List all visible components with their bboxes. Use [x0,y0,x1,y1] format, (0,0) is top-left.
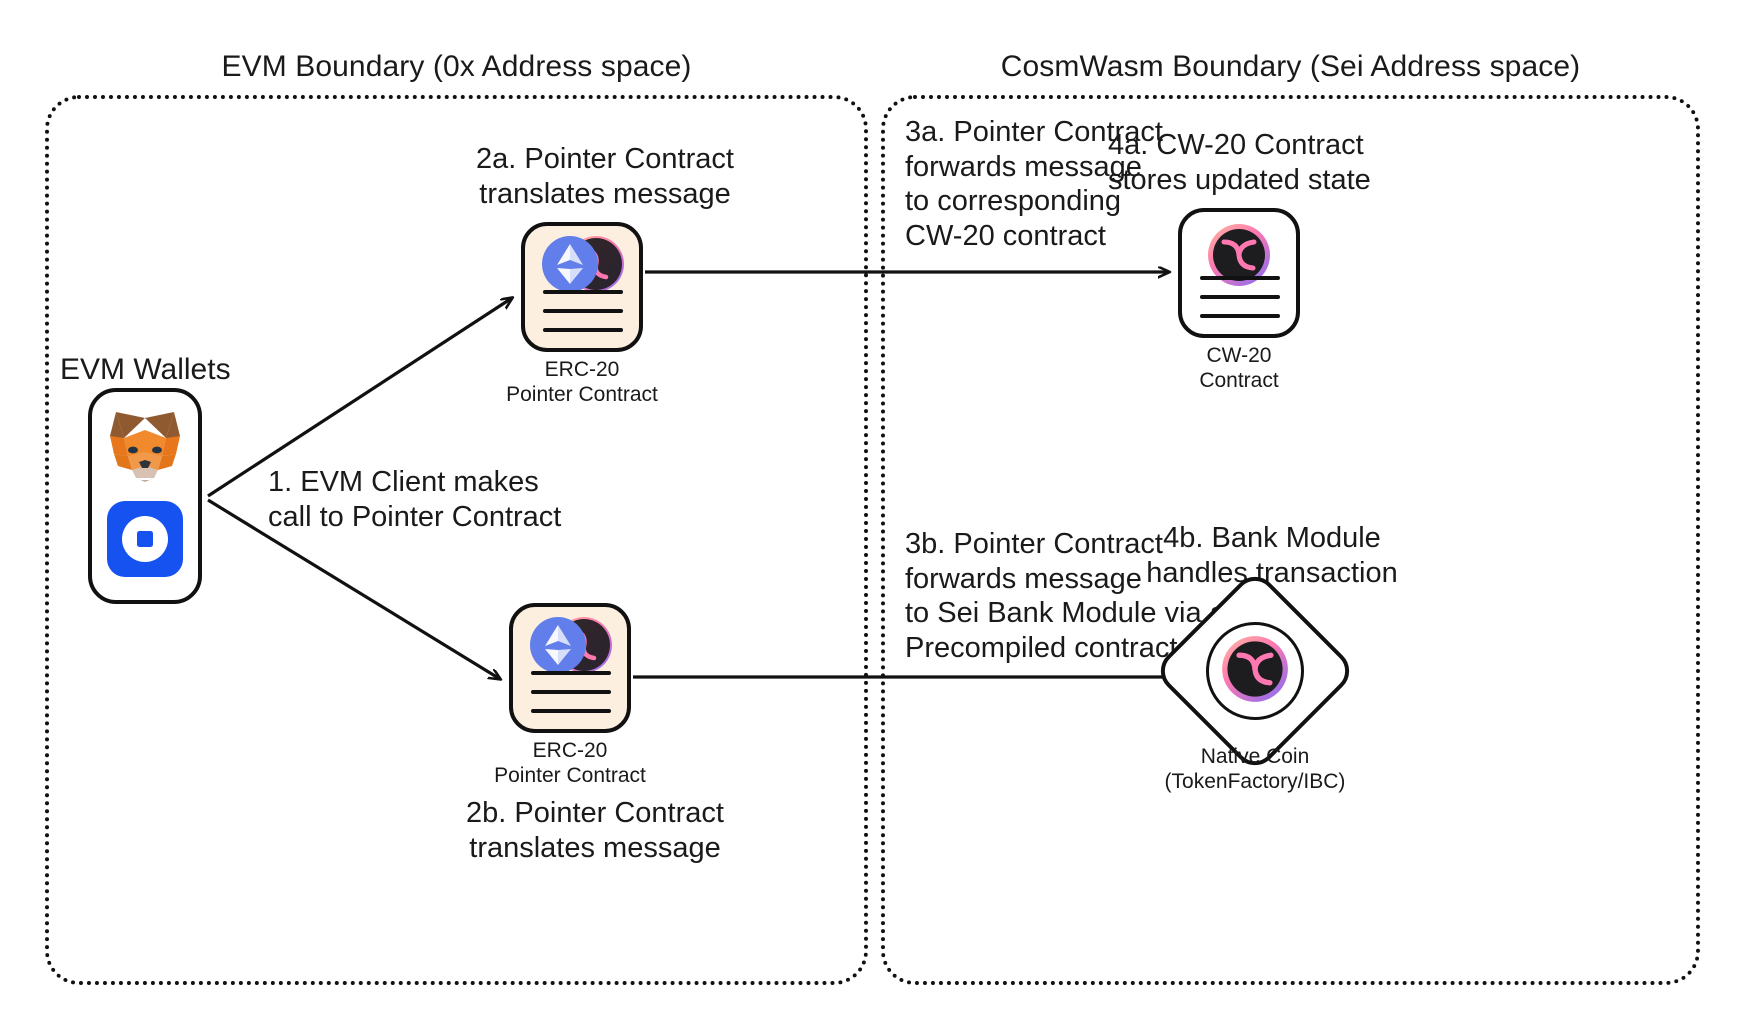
erc20-pointer-contract-bottom-node[interactable] [509,603,631,733]
evm-boundary-title: EVM Boundary (0x Address space) [45,50,868,84]
step-2b-label: 2b. Pointer Contract translates message [420,796,770,865]
sei-logo-icon [1220,634,1290,709]
coinbase-wallet-icon [107,501,183,582]
step-4a-label: 4a. CW-20 Contract stores updated state [1108,128,1418,197]
erc20-pointer-contract-top-node[interactable] [521,222,643,352]
diagram-canvas: EVM Boundary (0x Address space) CosmWasm… [0,0,1746,1026]
cw20-contract-caption: CW-20 Contract [1108,344,1370,394]
native-coin-circle [1206,622,1304,720]
evm-wallets-card [88,388,202,604]
document-lines [1200,276,1280,318]
cw20-contract-node[interactable] [1178,208,1300,338]
step-1-label: 1. EVM Client makes call to Pointer Cont… [268,465,628,534]
cw20-contract-card [1178,208,1300,338]
document-lines [543,290,623,332]
step-4b-label: 4b. Bank Module handles transaction [1122,521,1422,590]
step-2a-label: 2a. Pointer Contract translates message [440,142,770,211]
evm-wallets-node[interactable] [88,388,202,604]
erc20-pointer-card-bottom [509,603,631,733]
erc20-pointer-contract-top-caption: ERC-20 Pointer Contract [451,358,713,408]
native-coin-caption: Native Coin (TokenFactory/IBC) [1135,745,1375,795]
erc20-pointer-contract-bottom-caption: ERC-20 Pointer Contract [439,739,701,789]
document-lines [531,671,611,713]
cosmwasm-boundary-title: CosmWasm Boundary (Sei Address space) [881,50,1700,84]
evm-wallets-title: EVM Wallets [60,353,230,387]
native-coin-node[interactable] [1182,598,1328,744]
metamask-fox-icon [106,410,184,489]
erc20-pointer-card-top [521,222,643,352]
